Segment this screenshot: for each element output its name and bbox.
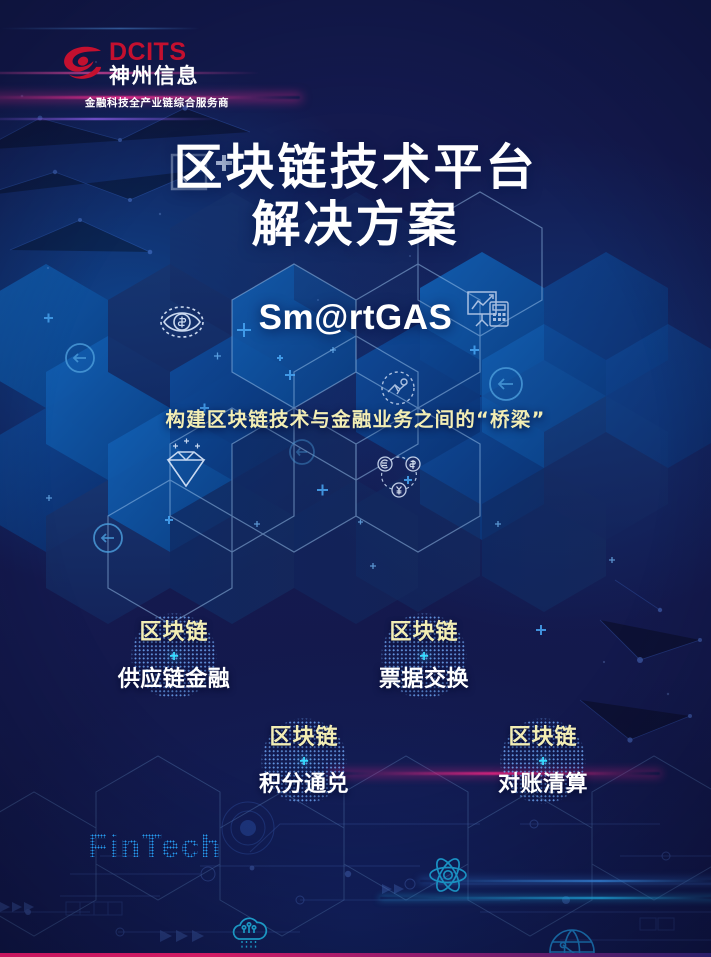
title-line-1: 区块链技术平台 — [0, 140, 711, 197]
badge-label-bottom: 供应链金融 — [118, 669, 231, 691]
badge-bill-exchange: 区块链 + 票据交换 — [363, 595, 485, 717]
product-name: Sm@rtGAS — [0, 298, 711, 338]
logo-tagline: 金融科技全产业链综合服务商 — [62, 95, 252, 110]
brand-logo: DCITS 神州信息 金融科技全产业链综合服务商 — [62, 40, 252, 110]
badge-reconciliation-settlement: 区块链 + 对账清算 — [482, 700, 604, 822]
badge-points-redemption: 区块链 + 积分通兑 — [243, 700, 365, 822]
badge-label-bottom: 票据交换 — [379, 669, 469, 691]
bottom-accent-rule — [0, 953, 711, 957]
fintech-watermark: FinTech — [88, 828, 222, 865]
logo-row: DCITS 神州信息 — [62, 40, 252, 87]
logo-name-en: DCITS — [109, 40, 187, 65]
badge-label-top: 区块链 — [259, 727, 349, 749]
badge-plus: + — [118, 649, 231, 665]
main-tagline: 构建区块链技术与金融业务之间的“桥梁” — [0, 403, 711, 432]
logo-name-cn: 神州信息 — [109, 66, 199, 87]
page-title: 区块链技术平台 解决方案 — [0, 140, 711, 254]
title-line-2: 解决方案 — [0, 197, 711, 254]
badge-plus: + — [498, 754, 588, 770]
badge-label-top: 区块链 — [498, 727, 588, 749]
badge-label-top: 区块链 — [379, 622, 469, 644]
badge-label-top: 区块链 — [118, 622, 231, 644]
badge-label-bottom: 积分通兑 — [259, 774, 349, 796]
dcits-swirl-logo-icon — [62, 46, 104, 82]
badge-plus: + — [259, 754, 349, 770]
poster-canvas: DCITS 神州信息 金融科技全产业链综合服务商 区块链技术平台 解决方案 Sm… — [0, 0, 711, 957]
logo-wordmark: DCITS 神州信息 — [109, 40, 199, 87]
badge-supply-chain-finance: 区块链 + 供应链金融 — [113, 595, 235, 717]
badge-plus: + — [379, 649, 469, 665]
badge-label-bottom: 对账清算 — [498, 774, 588, 796]
